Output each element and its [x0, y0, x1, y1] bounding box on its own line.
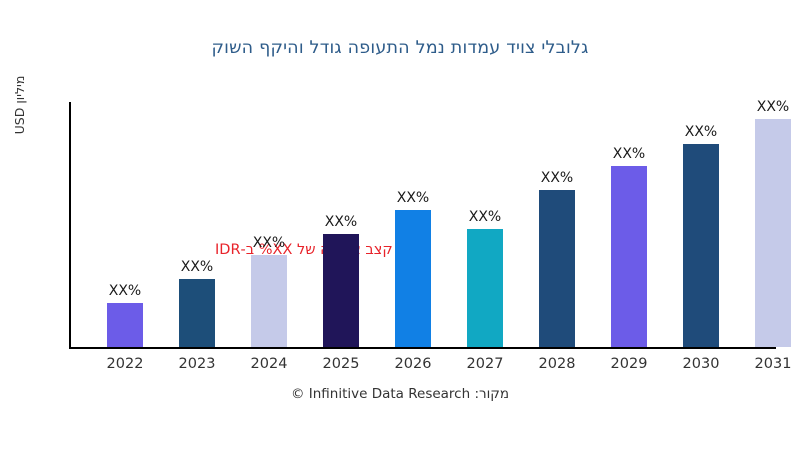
plot-area: קצב צמיחה של XX% ב-IDR XX%XX%XX%XX%XX%XX… [69, 102, 785, 349]
bar-value-label-2030: XX% [665, 124, 737, 140]
x-axis-line [69, 347, 776, 349]
bar-2028 [539, 190, 575, 347]
y-axis-label: מיליון USD [12, 50, 32, 160]
bar-chart: גלובלי צויד עמדות נמל התעופה גודל והיקף … [0, 0, 800, 450]
x-tick-2028: 2028 [521, 356, 593, 372]
bar-2025 [323, 234, 359, 347]
bar-value-label-2023: XX% [161, 259, 233, 275]
bar-value-label-2031: XX% [737, 99, 800, 115]
x-tick-2022: 2022 [89, 356, 161, 372]
x-tick-2024: 2024 [233, 356, 305, 372]
x-tick-2027: 2027 [449, 356, 521, 372]
x-tick-2030: 2030 [665, 356, 737, 372]
x-tick-2029: 2029 [593, 356, 665, 372]
bar-value-label-2027: XX% [449, 209, 521, 225]
bar-2030 [683, 144, 719, 347]
x-tick-2026: 2026 [377, 356, 449, 372]
y-axis-line [69, 102, 71, 349]
bar-2024 [251, 255, 287, 347]
source-footer: מקור: Infinitive Data Research © [0, 386, 800, 402]
bar-2031 [755, 119, 791, 347]
x-tick-2023: 2023 [161, 356, 233, 372]
bar-value-label-2026: XX% [377, 190, 449, 206]
bar-value-label-2029: XX% [593, 146, 665, 162]
x-tick-2025: 2025 [305, 356, 377, 372]
x-tick-2031: 2031 [737, 356, 800, 372]
bar-2023 [179, 279, 215, 347]
bar-value-label-2022: XX% [89, 283, 161, 299]
bar-2029 [611, 166, 647, 347]
bar-2026 [395, 210, 431, 347]
chart-title: גלובלי צויד עמדות נמל התעופה גודל והיקף … [0, 38, 800, 58]
bar-value-label-2028: XX% [521, 170, 593, 186]
bar-2027 [467, 229, 503, 347]
bar-value-label-2024: XX% [233, 235, 305, 251]
bar-2022 [107, 303, 143, 347]
bar-value-label-2025: XX% [305, 214, 377, 230]
